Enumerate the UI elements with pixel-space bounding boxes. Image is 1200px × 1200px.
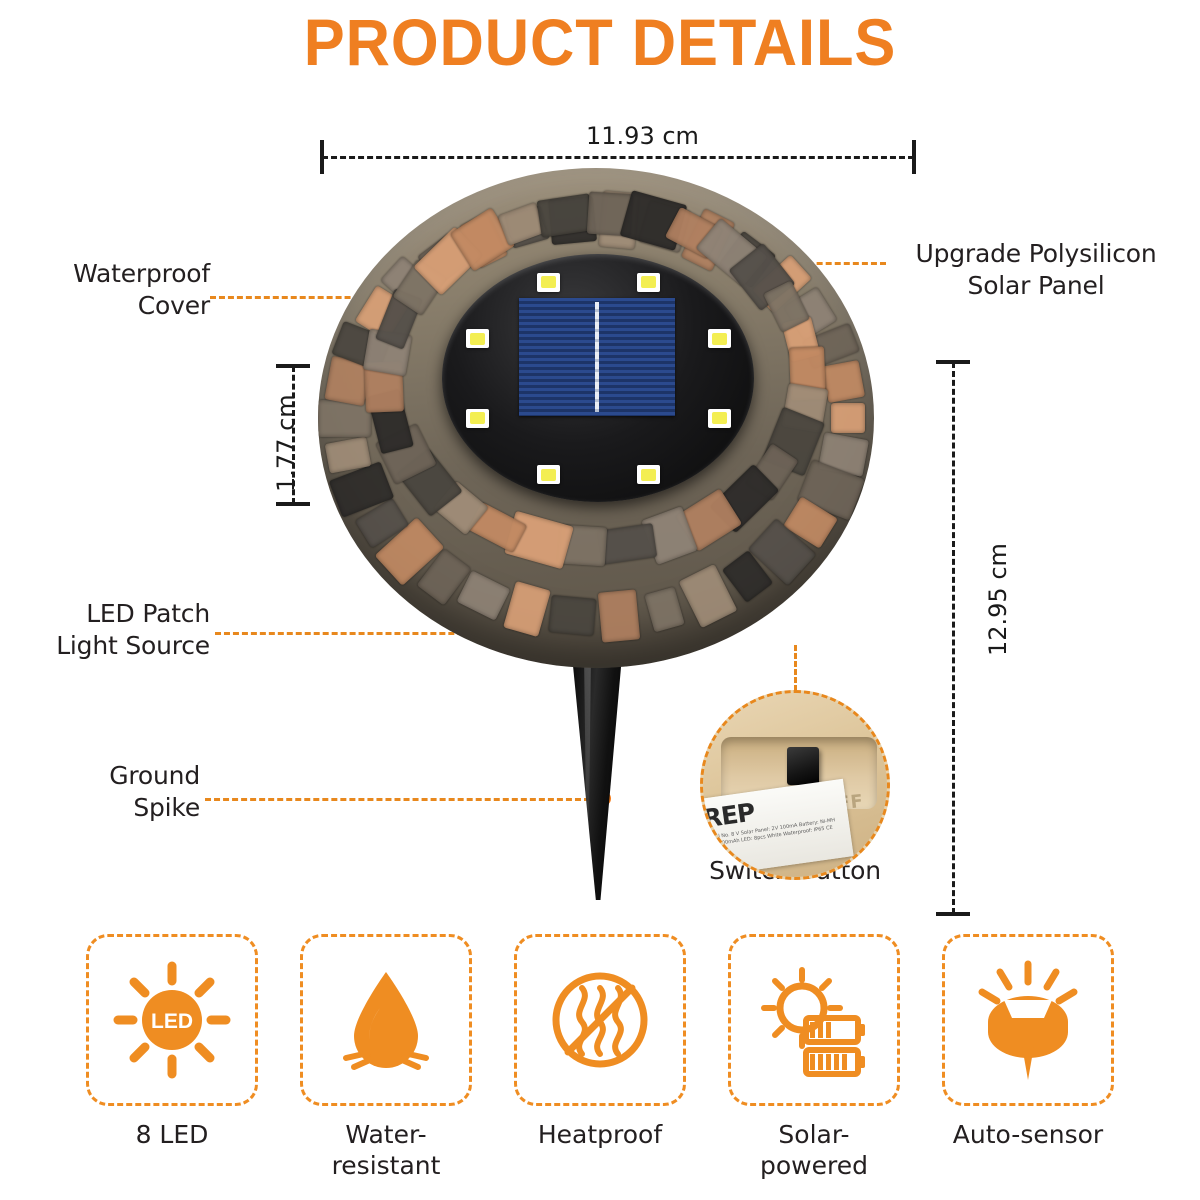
feature-box-water-resistant (300, 934, 472, 1106)
led-chip (466, 409, 489, 428)
feature-label-8-led: 8 LED (79, 1120, 265, 1151)
dimension-cap-width-right (912, 140, 916, 174)
led-chip (466, 329, 489, 348)
product-details-infographic: PRODUCT DETAILS 11.93 cm 1.77 cm 12.95 c… (0, 0, 1200, 1200)
dimension-cap-height-bottom (936, 912, 970, 916)
dimension-label-height: 12.95 cm (984, 543, 1012, 656)
brick-tile (536, 194, 594, 238)
no-heat-icon (538, 958, 662, 1082)
led-chip (537, 465, 560, 484)
feature-label-auto-sensor: Auto-sensor (935, 1120, 1121, 1151)
feature-box-auto-sensor (942, 934, 1114, 1106)
led-chip (537, 273, 560, 292)
ground-spike-part (568, 650, 626, 900)
sun-led-icon: LED (108, 956, 236, 1084)
brick-tile (831, 403, 865, 433)
led-chip (708, 329, 731, 348)
feature-box-heatproof (514, 934, 686, 1106)
water-droplet-icon (324, 958, 448, 1082)
feature-solar-powered[interactable]: Solar- powered (721, 934, 907, 1200)
callout-label-solar-panel: Upgrade Polysilicon Solar Panel (886, 238, 1186, 302)
dimension-cap-thickness-bottom (276, 502, 310, 506)
feature-label-heatproof: Heatproof (507, 1120, 693, 1151)
product-image (318, 168, 874, 908)
solar-busbar (595, 302, 599, 412)
callout-label-waterproof-cover: Waterproof Cover (10, 258, 210, 322)
feature-label-solar-powered: Solar- powered (721, 1120, 907, 1181)
feature-auto-sensor[interactable]: Auto-sensor (935, 934, 1121, 1200)
led-chip (637, 273, 660, 292)
led-icon-text: LED (151, 1010, 193, 1033)
brick-tile (457, 571, 511, 622)
spike-body (568, 650, 626, 900)
feature-icon-row: LED 8 LED Water- resistant (0, 934, 1200, 1200)
feature-box-solar-powered (728, 934, 900, 1106)
ground-light-sensor-icon (964, 956, 1092, 1084)
feature-water-resistant[interactable]: Water- resistant (293, 934, 479, 1200)
brick-tile (822, 360, 865, 403)
dimension-label-width: 11.93 cm (586, 122, 699, 150)
brick-tile (645, 586, 685, 632)
sun-battery-icon (750, 956, 878, 1084)
dimension-cap-thickness-top (276, 364, 310, 368)
led-chip (708, 409, 731, 428)
dimension-line-height (952, 362, 955, 914)
feature-box-8-led: LED (86, 934, 258, 1106)
feature-heatproof[interactable]: Heatproof (507, 934, 693, 1200)
brick-tile (549, 595, 597, 636)
dimension-line-width (322, 156, 914, 159)
feature-8-led[interactable]: LED 8 LED (79, 934, 265, 1200)
polysilicon-solar-panel (519, 298, 675, 416)
brick-tile (503, 581, 551, 637)
callout-label-ground-spike: Ground Spike (10, 760, 200, 824)
led-chip (637, 465, 660, 484)
feature-label-water-resistant: Water- resistant (293, 1120, 479, 1181)
dimension-label-thickness: 1.77 cm (272, 394, 300, 492)
page-title: PRODUCT DETAILS (42, 4, 1158, 80)
dimension-cap-height-top (936, 360, 970, 364)
brick-tile (598, 589, 640, 642)
callout-label-led-patch-light-source: LED Patch Light Source (10, 598, 210, 662)
